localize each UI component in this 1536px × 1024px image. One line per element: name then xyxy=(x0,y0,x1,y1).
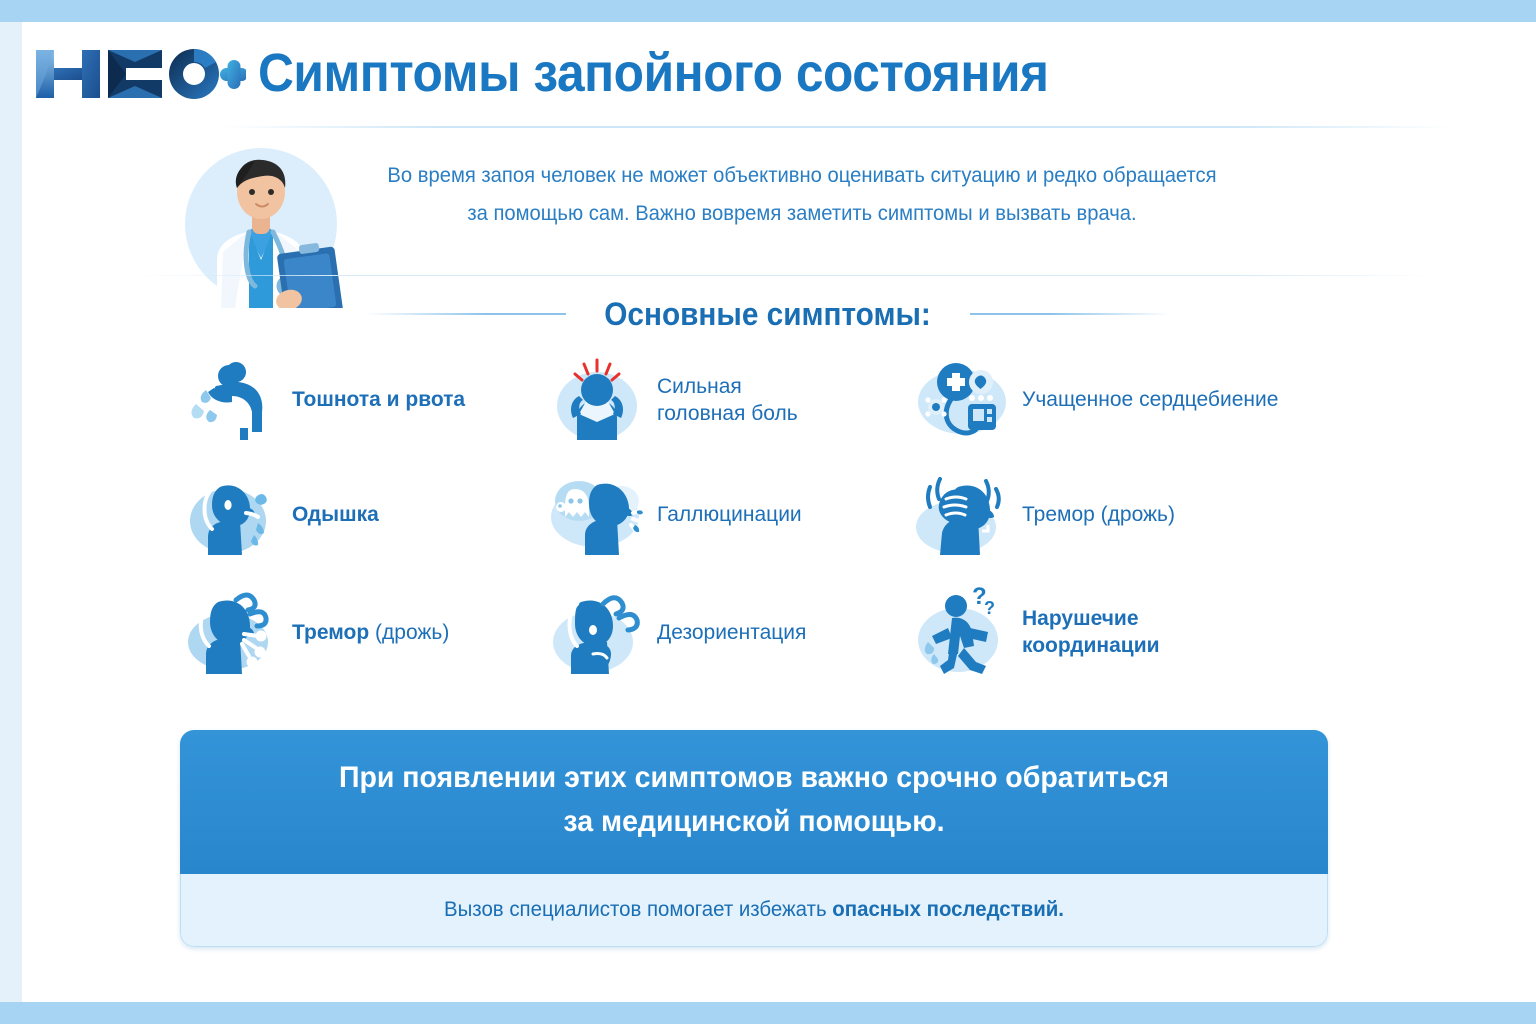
header-divider xyxy=(222,126,1452,128)
symptom-label: Одышка xyxy=(292,501,379,528)
brand-logo xyxy=(34,48,246,100)
symptom-label: Учащенное сердцебиение xyxy=(1022,386,1278,413)
intro-divider xyxy=(134,275,1434,276)
symptom-label: Тремор (дрожь) xyxy=(292,619,449,646)
sweating-person-icon xyxy=(182,582,282,682)
callout-primary: При появлении этих симптомов важно срочн… xyxy=(180,730,1328,874)
symptom-item: ? ? Нарушечие координации xyxy=(912,572,1332,692)
symptom-item: Сильная головная боль xyxy=(547,342,902,457)
symptom-item: Учащенное сердцебиение xyxy=(912,342,1332,457)
intro-section: Во время запоя человек не может объектив… xyxy=(22,132,1514,282)
headache-person-icon xyxy=(547,350,647,450)
bottom-border-band xyxy=(0,1002,1536,1024)
symptom-label: Сильная головная боль xyxy=(657,373,798,427)
symptom-label: Нарушечие координации xyxy=(1022,605,1160,659)
section-heading: Основные симптомы: xyxy=(22,292,1514,336)
heading-rule-left xyxy=(366,313,566,315)
intro-line-1: Во время запоя человек не может объектив… xyxy=(351,156,1253,194)
symptom-item: Галлюцинации xyxy=(547,457,902,572)
symptom-label: Галлюцинации xyxy=(657,501,802,528)
symptom-label-line1: Нарушечие xyxy=(1022,607,1139,630)
symptom-label: Тошнота и рвота xyxy=(292,386,465,413)
left-border-band xyxy=(0,22,22,1002)
symptom-item: Тошнота и рвота xyxy=(182,342,537,457)
stumbling-person-icon: ? ? xyxy=(912,582,1012,682)
heading-rule-right xyxy=(970,313,1170,315)
symptoms-grid: Тошнота и рвота xyxy=(182,342,1472,712)
doctor-avatar-icon xyxy=(177,140,345,308)
symptom-label-line2: координации xyxy=(1022,634,1160,657)
page-header: Симптомы запойного состояния xyxy=(22,22,1514,122)
call-to-action-callout: При появлении этих симптомов важно срочн… xyxy=(180,730,1328,947)
symptom-label-line1: Сильная xyxy=(657,375,742,398)
confused-person-icon xyxy=(547,582,647,682)
infographic-page: Симптомы запойного состояния xyxy=(22,22,1514,1002)
hallucination-icon xyxy=(547,465,647,565)
symptom-label-suffix: (дрожь) xyxy=(375,621,449,644)
symptom-item: Одышка xyxy=(182,457,537,572)
symptom-label: Дезориентация xyxy=(657,619,806,646)
section-heading-label: Основные симптомы: xyxy=(605,296,932,333)
symptom-label-bold: Тремор xyxy=(292,621,369,644)
svg-text:?: ? xyxy=(984,598,995,618)
breathless-person-icon xyxy=(182,465,282,565)
callout-footer-plain: Вызов специалистов помогает избежать xyxy=(444,897,832,921)
callout-line-2: за медицинской помощью. xyxy=(247,800,1262,844)
callout-footer: Вызов специалистов помогает избежать опа… xyxy=(180,874,1328,947)
symptom-item: Тремор (дрожь) xyxy=(912,457,1332,572)
symptom-item: Дезориентация xyxy=(547,572,902,692)
top-border-band xyxy=(0,0,1536,22)
neo-plus-logo-icon xyxy=(34,46,246,102)
page-title: Симптомы запойного состояния xyxy=(258,42,1049,104)
callout-footer-text: Вызов специалистов помогает избежать опа… xyxy=(248,894,1261,924)
vomiting-person-icon xyxy=(182,350,282,450)
intro-line-2: за помощью сам. Важно вовремя заметить с… xyxy=(351,194,1253,232)
callout-line-1: При появлении этих симптомов важно срочн… xyxy=(247,756,1262,800)
symptom-label-line2: головная боль xyxy=(657,402,798,425)
callout-footer-bold: опасных последствий. xyxy=(832,897,1064,921)
tremor-head-icon xyxy=(912,465,1012,565)
right-border-band xyxy=(1514,22,1536,1002)
medical-monitor-icon xyxy=(912,350,1012,450)
intro-paragraph: Во время запоя человек не может объектив… xyxy=(351,156,1253,232)
symptom-item: Тремор (дрожь) xyxy=(182,572,537,692)
symptom-label: Тремор (дрожь) xyxy=(1022,501,1175,528)
